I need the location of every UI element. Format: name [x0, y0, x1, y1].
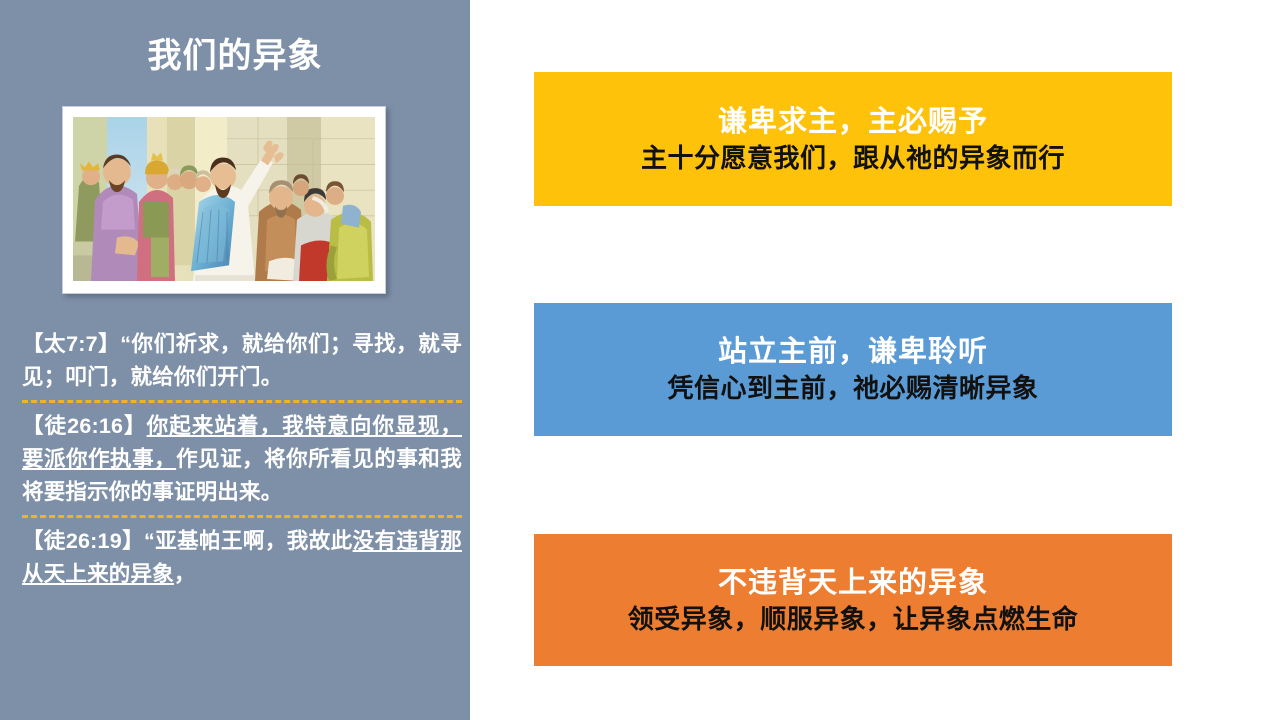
verse-reference: 【徒26:16】 — [22, 414, 147, 438]
verse-reference: 【太7:7】 — [22, 332, 120, 356]
scripture-block: 【太7:7】“你们祈求，就给你们；寻找，就寻见；叩门，就给你们开门。 【徒26:… — [22, 328, 462, 591]
verse-acts-26-19: 【徒26:19】“亚基帕王啊，我故此没有违背那从天上来的异象， — [22, 525, 462, 590]
point-subtitle: 领受异象，顺服异象，让异象点燃生命 — [628, 603, 1079, 636]
point-box-not-disobey-vision: 不违背天上来的异象 领受异象，顺服异象，让异象点燃生命 — [534, 534, 1172, 666]
dashed-divider-2 — [22, 515, 462, 518]
point-heading: 谦卑求主，主必赐予 — [718, 104, 988, 140]
verse-reference: 【徒26:19】 — [22, 529, 144, 553]
illustration-frame — [62, 106, 386, 294]
verse-text: ， — [174, 562, 196, 586]
point-box-stand-before-lord: 站立主前，谦卑聆听 凭信心到主前，祂必赐清晰异象 — [534, 303, 1172, 436]
sidebar-panel: 我们的异象 — [0, 0, 470, 720]
verse-acts-26-16: 【徒26:16】你起来站着，我特意向你显现，要派你作执事，作见证，将你所看见的事… — [22, 410, 462, 508]
point-subtitle: 凭信心到主前，祂必赐清晰异象 — [667, 372, 1038, 405]
point-heading: 不违背天上来的异象 — [718, 565, 988, 601]
dashed-divider-1 — [22, 400, 462, 403]
point-box-humble-asking: 谦卑求主，主必赐予 主十分愿意我们，跟从祂的异象而行 — [534, 72, 1172, 206]
page-title: 我们的异象 — [0, 36, 470, 77]
main-content-panel: 谦卑求主，主必赐予 主十分愿意我们，跟从祂的异象而行 站立主前，谦卑聆听 凭信心… — [470, 0, 1280, 720]
verse-matthew-7-7: 【太7:7】“你们祈求，就给你们；寻找，就寻见；叩门，就给你们开门。 — [22, 328, 462, 393]
point-subtitle: 主十分愿意我们，跟从祂的异象而行 — [641, 142, 1065, 175]
point-heading: 站立主前，谦卑聆听 — [718, 334, 988, 370]
paul-preaching-illustration — [73, 117, 375, 281]
verse-text: “亚基帕王啊，我故此 — [144, 529, 353, 553]
